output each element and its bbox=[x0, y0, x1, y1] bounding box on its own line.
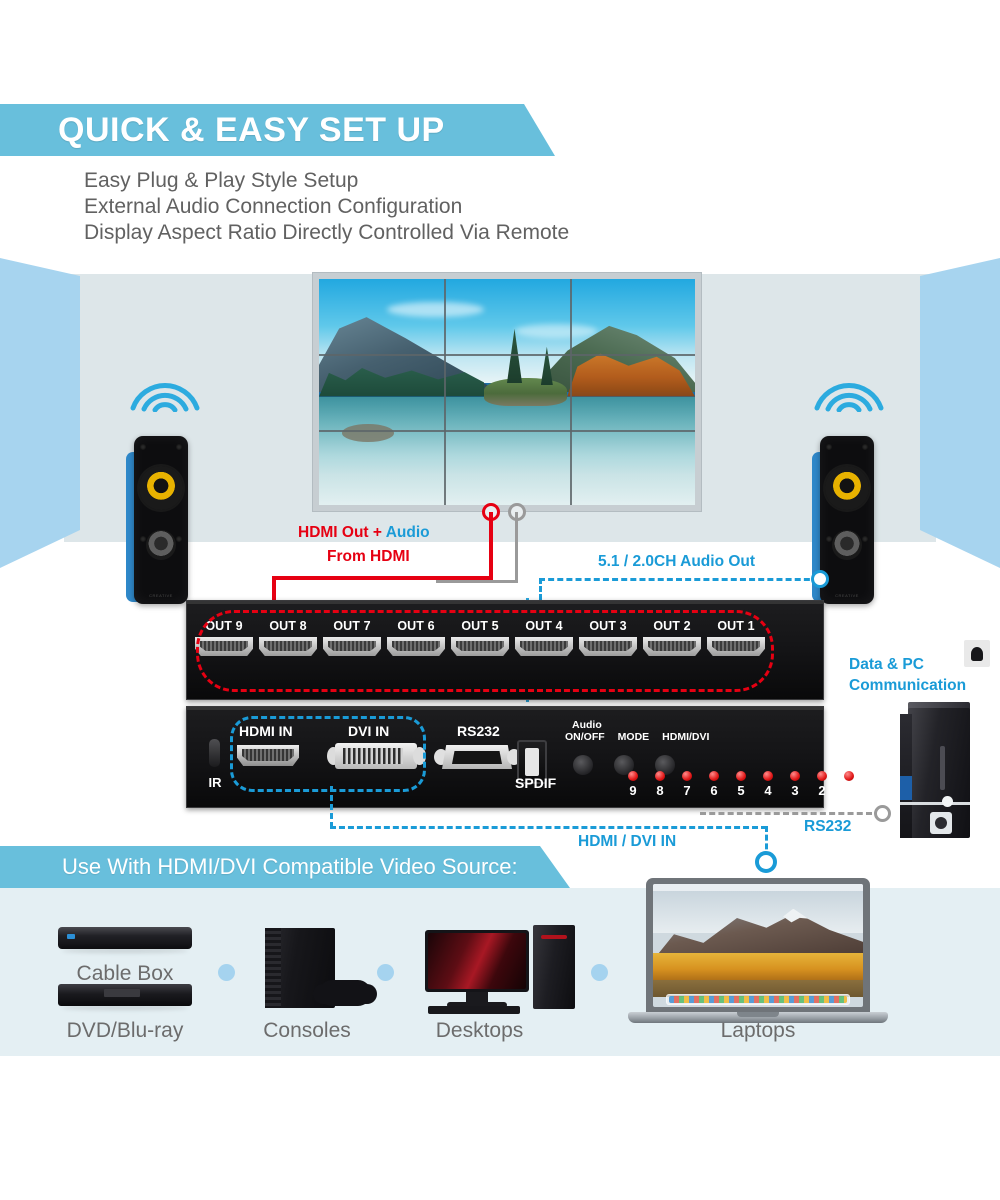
video-wall-screen bbox=[319, 279, 695, 505]
videowall-bezel-vertical bbox=[444, 279, 446, 505]
right-wall-panel bbox=[920, 258, 1000, 568]
callout-hdmi-dvi-in: HDMI / DVI IN bbox=[578, 833, 676, 851]
audio-onoff-button[interactable] bbox=[573, 755, 593, 775]
speaker-screw bbox=[826, 536, 832, 542]
game-console-fins bbox=[265, 928, 281, 1008]
status-led-8: 8 bbox=[654, 771, 666, 798]
laptop-menu-bar bbox=[653, 884, 863, 891]
speaker-screw bbox=[176, 536, 182, 542]
speaker-screw bbox=[140, 536, 146, 542]
panel-sheen bbox=[187, 707, 823, 710]
infographic-canvas: QUICK & EASY SET UP Easy Plug & Play Sty… bbox=[0, 0, 1000, 1200]
source-label-dvd: DVD/Blu-ray bbox=[35, 1019, 215, 1043]
audio-cable-gray-vertical bbox=[515, 512, 518, 582]
laptop-dock bbox=[666, 994, 851, 1005]
callout-audio-text: Audio bbox=[386, 524, 430, 541]
keyboard-icon bbox=[428, 1006, 520, 1014]
feature-line-2: External Audio Connection Configuration bbox=[84, 194, 569, 220]
hdmi-cable-red-drop bbox=[272, 576, 276, 602]
pc-drive-slot bbox=[940, 746, 945, 790]
sources-title: Use With HDMI/DVI Compatible Video Sourc… bbox=[62, 854, 518, 880]
led-indicator bbox=[628, 771, 638, 781]
scene-island bbox=[484, 378, 567, 405]
pc-tower bbox=[900, 700, 978, 842]
scene-cloud bbox=[515, 324, 598, 338]
callout-data-pc-line1: Data & PC bbox=[849, 654, 966, 675]
gamepad-icon bbox=[319, 980, 371, 1006]
speaker-woofer bbox=[825, 466, 869, 510]
audio-button-group: Audio ON/OFF MODE HDMI/DVI bbox=[565, 719, 709, 743]
laptop-wallpaper-field bbox=[653, 953, 863, 983]
sound-wave-icon bbox=[127, 368, 203, 412]
dc-power-jack-icon[interactable] bbox=[964, 640, 990, 667]
desktop-monitor-screen bbox=[428, 933, 526, 989]
inputs-highlight-box bbox=[230, 716, 426, 792]
rs232-label: RS232 bbox=[457, 723, 500, 739]
status-led-9: 9 bbox=[627, 771, 639, 798]
speaker-tweeter bbox=[832, 530, 862, 560]
rs232-dashed-line bbox=[700, 812, 872, 815]
dc-power-label: DC 12V bbox=[947, 619, 1000, 633]
videowall-bezel-horizontal bbox=[319, 430, 695, 432]
mode-button-label: MODE bbox=[618, 731, 650, 743]
audio-out-connector bbox=[811, 570, 829, 588]
cable-box-device bbox=[58, 927, 192, 949]
scene-reflection bbox=[319, 397, 695, 505]
speaker-screw bbox=[826, 444, 832, 450]
hdmidvi-button-label: HDMI/DVI bbox=[662, 731, 709, 743]
audio-button-labels: ON/OFF MODE HDMI/DVI bbox=[565, 731, 709, 743]
source-label-consoles: Consoles bbox=[222, 1019, 392, 1043]
videowall-bezel-horizontal bbox=[319, 354, 695, 356]
pc-divider bbox=[900, 802, 970, 805]
audio-cable-gray-horizontal bbox=[436, 580, 518, 583]
ir-receiver-icon bbox=[209, 739, 220, 767]
sound-wave-icon bbox=[811, 368, 887, 412]
audio-out-dashed-line bbox=[539, 578, 819, 581]
speaker-screw bbox=[176, 444, 182, 450]
cable-box-shadow bbox=[62, 948, 188, 953]
status-led-7: 7 bbox=[681, 771, 693, 798]
status-led-6: 6 bbox=[708, 771, 720, 798]
source-label-laptops: Laptops bbox=[668, 1019, 848, 1043]
status-led-1: 1 bbox=[843, 771, 855, 798]
desktop-tower bbox=[533, 925, 575, 1009]
dvd-bluray-device bbox=[58, 984, 192, 1006]
pc-indicator-dot bbox=[942, 796, 953, 807]
header-banner: QUICK & EASY SET UP bbox=[0, 104, 555, 156]
status-led-3: 3 bbox=[789, 771, 801, 798]
led-indicator bbox=[709, 771, 719, 781]
led-indicator bbox=[844, 771, 854, 781]
led-indicator bbox=[736, 771, 746, 781]
callout-audio-out: 5.1 / 2.0CH Audio Out bbox=[598, 553, 755, 571]
hdmi-cable-red-vertical bbox=[489, 512, 493, 580]
callout-rs232: RS232 bbox=[804, 818, 851, 836]
speaker-screw bbox=[862, 536, 868, 542]
laptop-screen bbox=[653, 884, 863, 1007]
video-wall bbox=[312, 272, 702, 512]
status-led-row: 9 8 7 6 5 4 3 bbox=[627, 771, 855, 798]
led-indicator bbox=[763, 771, 773, 781]
callout-data-pc-line2: Communication bbox=[849, 675, 966, 696]
speaker-tweeter bbox=[146, 530, 176, 560]
speaker-brand-text: CREATIVE bbox=[134, 593, 188, 598]
led-indicator bbox=[790, 771, 800, 781]
spdif-label: SPDIF bbox=[515, 775, 556, 791]
outputs-highlight-ellipse bbox=[196, 610, 774, 692]
speaker-left: CREATIVE bbox=[124, 436, 188, 608]
desktop-monitor bbox=[425, 930, 529, 992]
callout-hdmi-out-text: HDMI Out bbox=[298, 524, 369, 541]
speaker-cabinet: CREATIVE bbox=[134, 436, 188, 604]
status-led-2: 2 bbox=[816, 771, 828, 798]
hdmi-dvi-dashed-drop bbox=[330, 786, 333, 828]
laptop-hdmi-connector bbox=[755, 851, 777, 873]
led-indicator bbox=[655, 771, 665, 781]
led-indicator bbox=[817, 771, 827, 781]
speaker-brand-text: CREATIVE bbox=[820, 593, 874, 598]
onoff-button-label: ON/OFF bbox=[565, 731, 605, 743]
callout-from-hdmi: From HDMI bbox=[327, 548, 410, 566]
status-led-4: 4 bbox=[762, 771, 774, 798]
source-label-desktops: Desktops bbox=[392, 1019, 567, 1043]
sources-banner: Use With HDMI/DVI Compatible Video Sourc… bbox=[0, 846, 570, 888]
led-indicator bbox=[682, 771, 692, 781]
separator-dot bbox=[218, 964, 235, 981]
hdmi-dvi-dashed-line bbox=[330, 826, 767, 829]
ir-label: IR bbox=[199, 775, 231, 790]
rs232-db9-jack-icon[interactable] bbox=[442, 745, 512, 769]
page-title: QUICK & EASY SET UP bbox=[58, 111, 445, 150]
status-led-5: 5 bbox=[735, 771, 747, 798]
speaker-screw bbox=[862, 444, 868, 450]
panel-sheen bbox=[187, 601, 823, 604]
dvd-shadow bbox=[62, 1005, 188, 1010]
audio-out-dashed-drop bbox=[539, 578, 542, 600]
source-label-cable-box: Cable Box bbox=[35, 962, 215, 986]
laptop-device bbox=[646, 878, 870, 1014]
separator-dot bbox=[591, 964, 608, 981]
callout-data-pc: Data & PC Communication bbox=[849, 654, 966, 696]
feature-list: Easy Plug & Play Style Setup External Au… bbox=[84, 168, 569, 246]
separator-dot bbox=[377, 964, 394, 981]
pc-accent-strip bbox=[900, 776, 912, 800]
videowall-bezel-vertical bbox=[570, 279, 572, 505]
scene-rock bbox=[342, 424, 395, 442]
speaker-woofer bbox=[139, 466, 183, 510]
feature-line-1: Easy Plug & Play Style Setup bbox=[84, 168, 569, 194]
rs232-connector bbox=[874, 805, 891, 822]
pc-power-button[interactable] bbox=[930, 812, 952, 834]
audio-group-label: Audio bbox=[572, 719, 709, 731]
feature-line-3: Display Aspect Ratio Directly Controlled… bbox=[84, 220, 569, 246]
callout-hdmi-out: HDMI Out + Audio bbox=[298, 524, 430, 542]
laptop-notch bbox=[737, 1012, 779, 1017]
left-wall-panel bbox=[0, 258, 80, 568]
speaker-screw bbox=[140, 444, 146, 450]
callout-plus: + bbox=[369, 524, 386, 541]
